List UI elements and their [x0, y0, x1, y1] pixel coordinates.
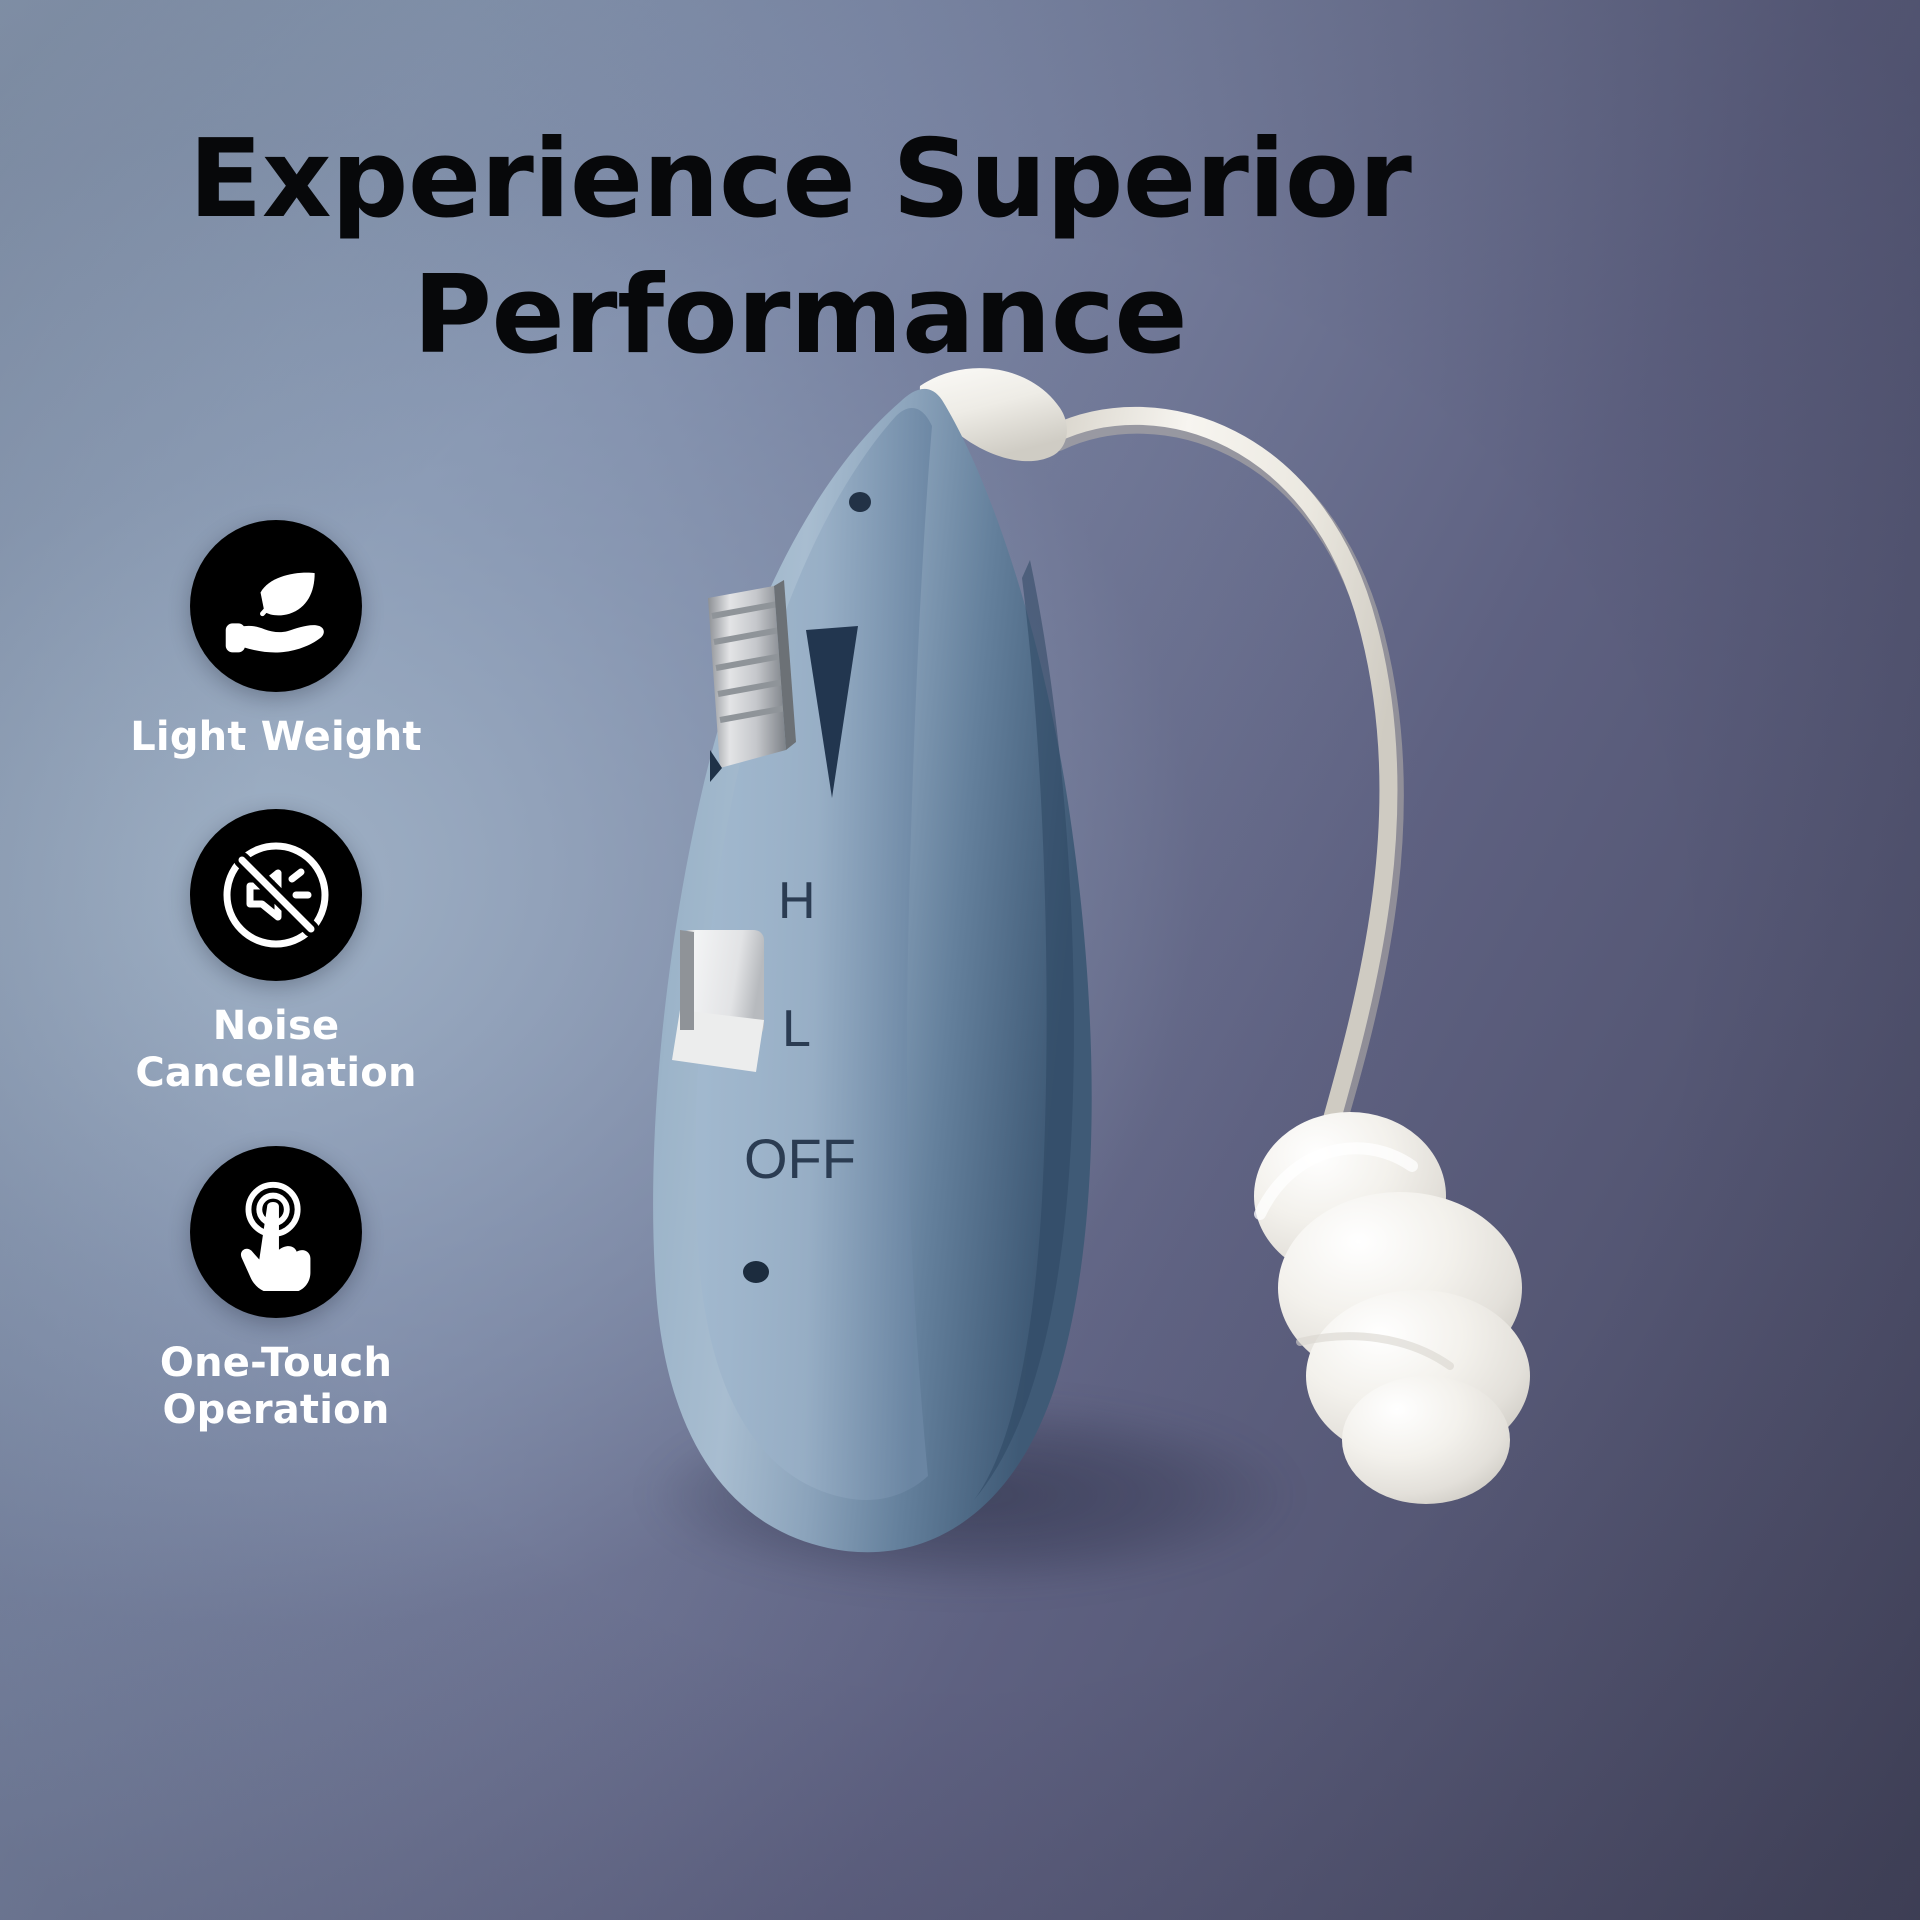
poster-canvas: Experience Superior Performance [0, 0, 1920, 1920]
switch-label-high: H [778, 872, 816, 930]
feature-item-noise-cancellation: Noise Cancellation [96, 809, 456, 1097]
tap-finger-icon [217, 1173, 335, 1291]
program-switch[interactable] [672, 930, 764, 1072]
microphone-port-bottom [743, 1261, 769, 1283]
feature-item-one-touch-operation: One-Touch Operation [96, 1146, 456, 1434]
sound-tube-shadow [1058, 423, 1393, 1142]
feature-badge [190, 809, 362, 981]
hand-holding-leaf-icon [218, 548, 334, 664]
ear-tip-dome [1254, 1112, 1530, 1504]
feature-list: Light Weight [96, 520, 456, 1434]
feature-badge [190, 1146, 362, 1318]
feature-label: Light Weight [130, 714, 422, 761]
switch-label-off: OFF [744, 1127, 856, 1190]
feature-label: One-Touch Operation [160, 1340, 392, 1434]
sound-tube [1054, 416, 1389, 1140]
hearing-aid-illustration: H L OFF [560, 330, 1880, 1750]
feature-badge [190, 520, 362, 692]
product-image-hearing-aid: H L OFF [560, 330, 1880, 1750]
feature-label: Noise Cancellation [135, 1003, 416, 1097]
feature-item-light-weight: Light Weight [96, 520, 456, 761]
switch-label-low: L [782, 1000, 811, 1058]
microphone-port-top [849, 492, 871, 512]
mute-speaker-icon [216, 835, 336, 955]
